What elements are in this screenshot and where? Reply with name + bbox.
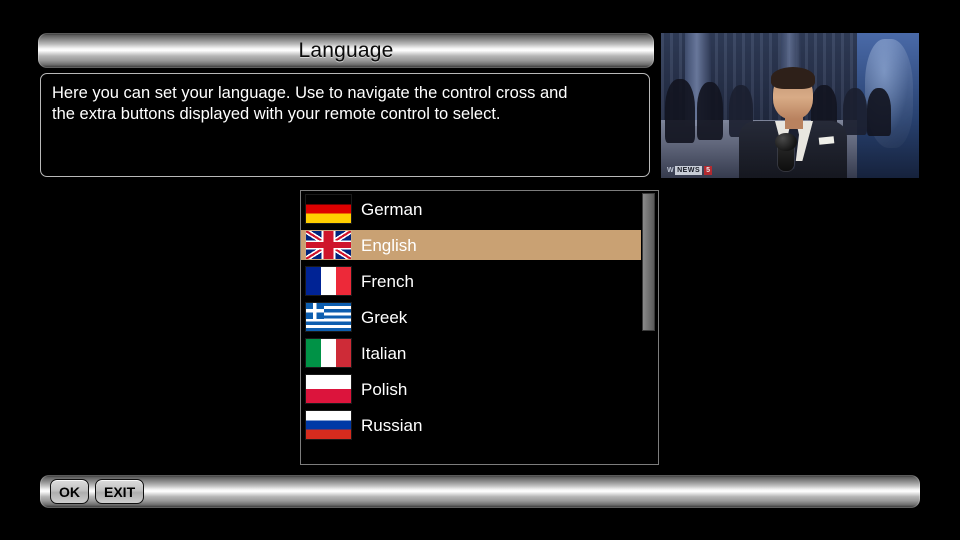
- list-item-label: French: [361, 273, 414, 290]
- broadcaster-logo-prefix: W: [667, 167, 673, 174]
- description-text: Here you can set your language. Use to n…: [52, 83, 637, 125]
- video-crowd-figure: [665, 79, 695, 143]
- flag-russian-icon: [306, 411, 351, 439]
- flag-french-icon: [306, 267, 351, 295]
- title-bar: Language: [38, 33, 654, 68]
- language-list[interactable]: German English French Greek Italian: [301, 194, 641, 446]
- list-item[interactable]: Italian: [301, 338, 641, 368]
- flag-greek-icon: [306, 303, 351, 331]
- list-item[interactable]: French: [301, 266, 641, 296]
- language-list-panel: German English French Greek Italian: [300, 190, 659, 465]
- flag-polish-icon: [306, 375, 351, 403]
- list-scrollbar-thumb[interactable]: [642, 193, 655, 331]
- list-item-label: Russian: [361, 417, 422, 434]
- list-item[interactable]: English: [301, 230, 641, 260]
- list-item[interactable]: Polish: [301, 374, 641, 404]
- tv-osd-screen: Language Here you can set your language.…: [0, 0, 960, 540]
- video-microphone-head: [775, 133, 797, 151]
- bottom-bar: OK EXIT: [40, 475, 920, 508]
- live-tv-preview[interactable]: W NEWS 5: [661, 33, 919, 178]
- list-item-label: Greek: [361, 309, 407, 326]
- broadcaster-logo: W NEWS 5: [667, 166, 712, 175]
- list-item-label: Polish: [361, 381, 407, 398]
- page-title: Language: [38, 33, 654, 68]
- list-scrollbar[interactable]: [642, 193, 655, 464]
- video-crowd-figure: [843, 88, 867, 134]
- list-item-label: German: [361, 201, 422, 218]
- exit-button[interactable]: EXIT: [95, 479, 144, 504]
- flag-italian-icon: [306, 339, 351, 367]
- list-item[interactable]: Russian: [301, 410, 641, 440]
- ok-button[interactable]: OK: [50, 479, 89, 504]
- flag-german-icon: [306, 195, 351, 223]
- list-item-label: English: [361, 237, 417, 254]
- list-item[interactable]: Greek: [301, 302, 641, 332]
- softkey-bar: OK EXIT: [50, 479, 144, 504]
- video-crowd-figure: [697, 82, 723, 140]
- description-panel: Here you can set your language. Use to n…: [40, 73, 650, 177]
- broadcaster-logo-label: NEWS: [675, 166, 702, 175]
- list-item-label: Italian: [361, 345, 406, 362]
- list-item[interactable]: German: [301, 194, 641, 224]
- video-reporter-hair: [771, 67, 815, 89]
- video-crowd-figure: [867, 88, 891, 136]
- flag-english-icon: [306, 231, 351, 259]
- broadcaster-logo-badge: 5: [704, 166, 712, 175]
